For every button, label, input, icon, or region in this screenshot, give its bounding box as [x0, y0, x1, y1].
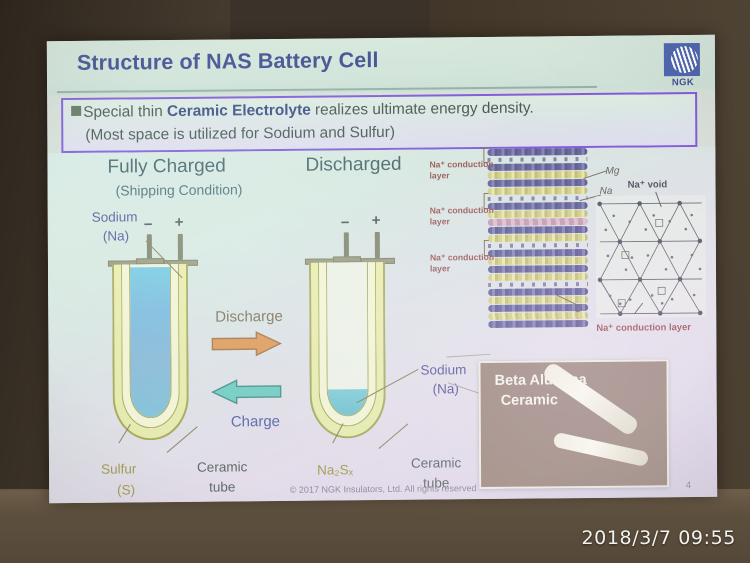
ngk-striped-circle-icon — [671, 46, 698, 73]
header-rule — [57, 86, 597, 93]
discharged-ceramic-label: Ceramic — [411, 455, 461, 470]
charge-arrow-icon — [211, 379, 283, 405]
leader-line-beta-1 — [446, 354, 490, 358]
photographed-slide-scene: Structure of NAS Battery Cell NGK Specia… — [0, 0, 750, 563]
beta-alumina-layer-stack — [487, 146, 588, 333]
positive-terminal-pin — [178, 234, 183, 260]
charged-subheading: (Shipping Condition) — [116, 181, 243, 198]
sodium-fill-level-full — [130, 267, 171, 417]
bullet-text-post: realizes ultimate energy density. — [311, 100, 534, 119]
positive-terminal-pin-discharged — [375, 232, 380, 258]
bullet-text-strong: Ceramic Electrolyte — [167, 102, 311, 120]
bullet-line-2: (Most space is utilized for Sodium and S… — [85, 124, 395, 145]
camera-timestamp: 2018/3/7 09:55 — [581, 527, 736, 549]
sodium-inner-chamber — [129, 264, 172, 418]
beta-photo-title-line2: Ceramic — [501, 392, 558, 409]
cell-diagram-discharged: − + — [303, 232, 414, 443]
atom-label-o: O — [574, 304, 582, 315]
na-conduction-label-3: Na⁺ conductionlayer — [430, 252, 494, 275]
slide-header: Structure of NAS Battery Cell NGK — [47, 35, 715, 95]
bullet-line-1: Special thin Ceramic Electrolyte realize… — [71, 98, 689, 122]
charge-label: Charge — [231, 413, 280, 430]
charged-sodium-symbol: (Na) — [103, 228, 129, 243]
ngk-logo-text: NGK — [660, 77, 706, 88]
charged-heading: Fully Charged — [107, 155, 225, 178]
negative-terminal-pin-discharged — [344, 232, 349, 258]
sulfur-label: Sulfur — [101, 461, 136, 476]
terminal-positive-label: + — [175, 214, 184, 231]
triangular-lattice-diagram — [596, 195, 707, 318]
discharged-sodium-label: Sodium — [420, 362, 466, 377]
terminal-negative-label-discharged: − — [341, 214, 350, 231]
discharge-label: Discharge — [215, 308, 283, 326]
na-void-label: Na⁺ void — [628, 179, 668, 190]
projected-slide: Structure of NAS Battery Cell NGK Specia… — [47, 35, 717, 503]
discharged-sodium-symbol: (Na) — [433, 381, 459, 396]
crystal-structure-panel: Na⁺ conductionlayer Na⁺ conductionlayer … — [487, 143, 712, 363]
discharge-arrow-icon — [210, 331, 282, 357]
charged-sodium-label: Sodium — [92, 209, 138, 224]
na-conduction-label-1: Na⁺ conductionlayer — [429, 159, 493, 182]
square-bullet-icon — [71, 106, 81, 116]
sodium-inner-chamber-discharged — [326, 262, 369, 416]
bullet-text-pre: Special thin — [83, 103, 167, 121]
na-conduction-layer-bottom-label: Na⁺ conduction layer — [596, 321, 691, 334]
slide-body: Fully Charged (Shipping Condition) Disch… — [47, 147, 717, 503]
terminal-positive-label-discharged: + — [372, 212, 381, 229]
terminal-negative-label: − — [144, 216, 153, 233]
beta-alumina-photo: Beta Alumina Ceramic — [478, 359, 669, 489]
discharged-heading: Discharged — [305, 154, 401, 177]
ceramic-rod-2 — [552, 432, 649, 467]
na-conduction-label-2: Na⁺ conductionlayer — [430, 205, 494, 228]
ngk-logo-icon — [664, 43, 700, 76]
na2sx-label: Na₂Sₓ — [317, 462, 353, 477]
cell-diagram-charged: − + — [106, 234, 217, 445]
copyright-footer: © 2017 NGK Insulators, Ltd. All rights r… — [49, 481, 717, 497]
atom-label-mg: Mg — [605, 166, 619, 177]
page-title: Structure of NAS Battery Cell — [77, 48, 379, 76]
charged-ceramic-label: Ceramic — [197, 459, 247, 474]
slide-page-number: 4 — [686, 480, 691, 491]
ngk-logo: NGK — [660, 43, 706, 91]
